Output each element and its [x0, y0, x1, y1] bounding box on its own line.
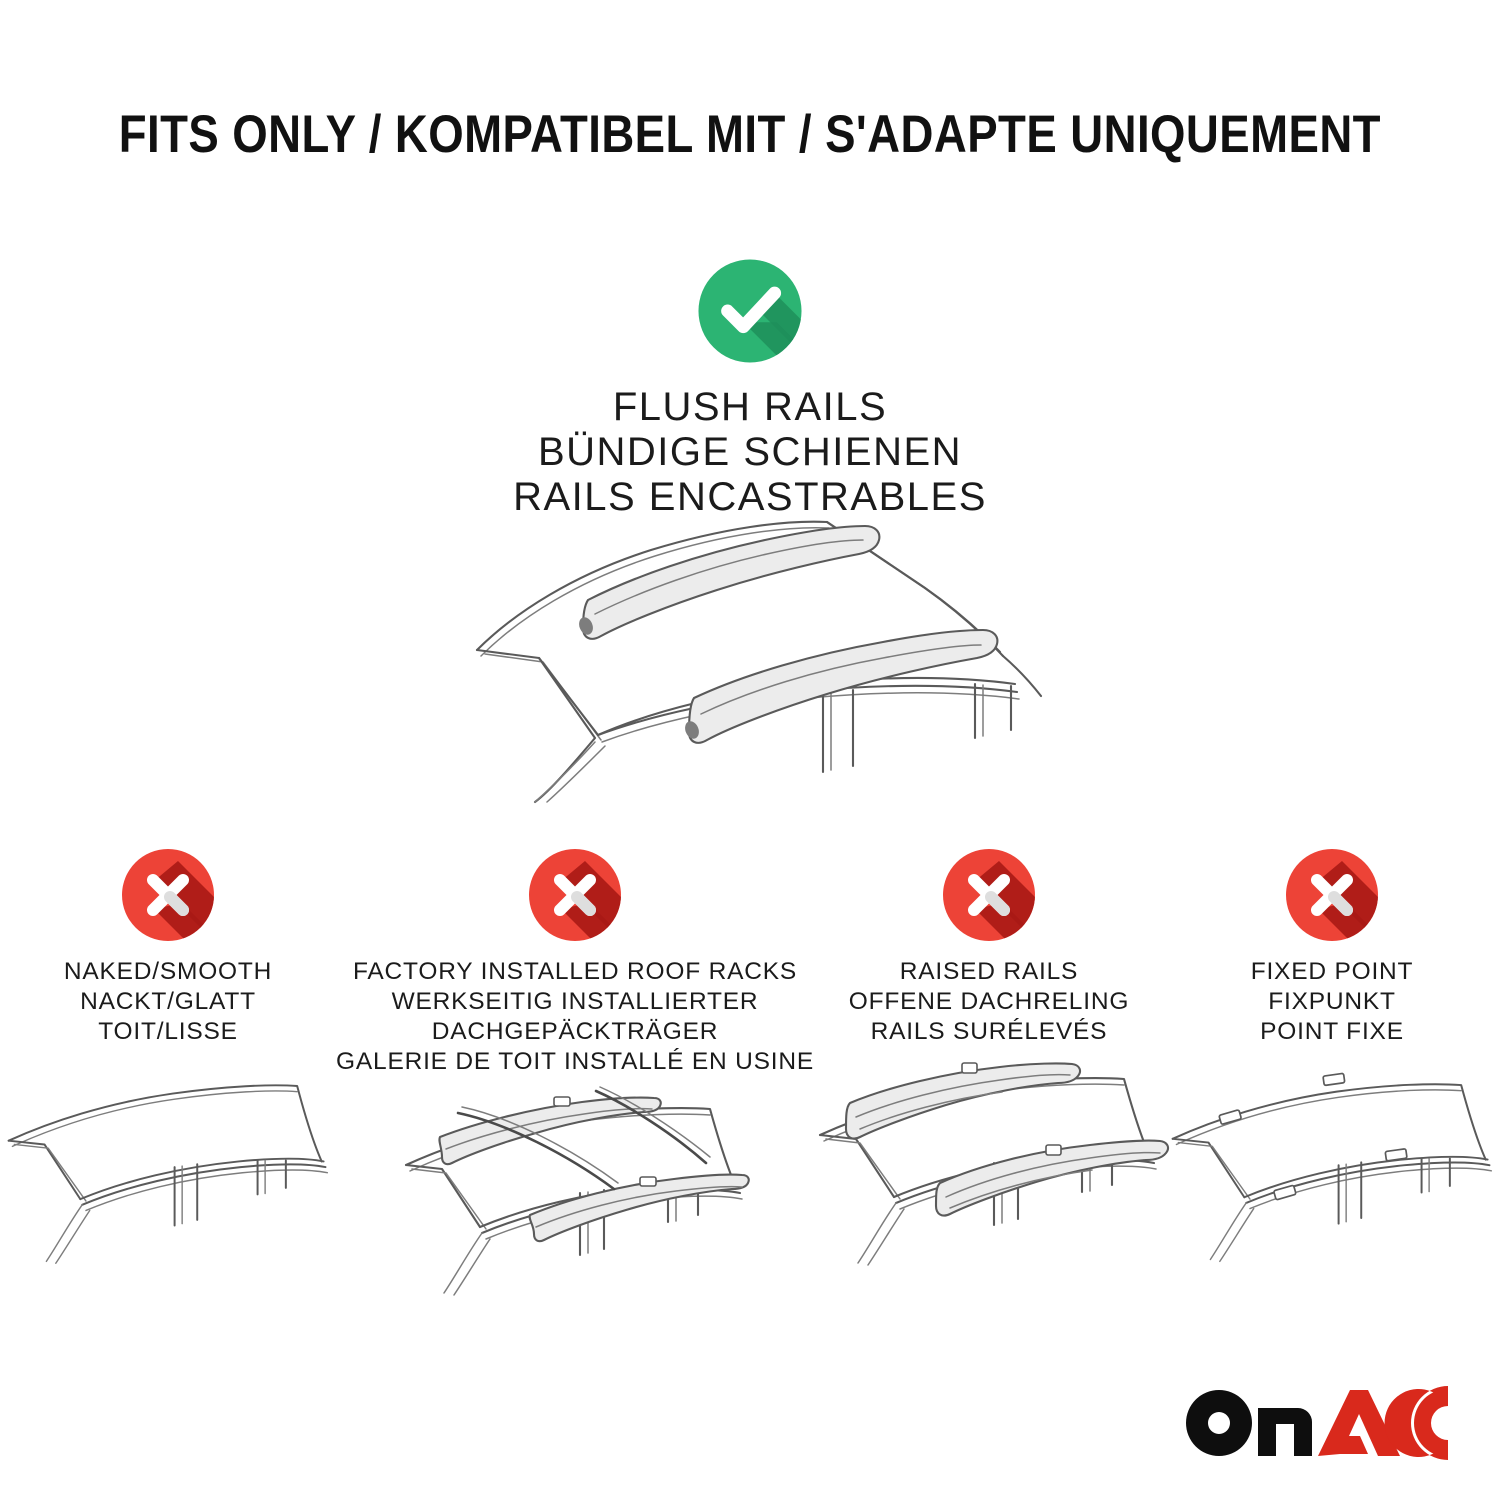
x-circle-icon: [1282, 845, 1382, 945]
option-caption-line-1: FACTORY INSTALLED ROOF RACKS: [336, 957, 814, 987]
option-caption-line-2: NACKT/GLATT: [64, 987, 272, 1017]
factory-roof-racks-illustration: [400, 1091, 750, 1306]
hero-caption-line-1: FLUSH RAILS: [0, 385, 1500, 430]
option-caption: NAKED/SMOOTH NACKT/GLATT TOIT/LISSE: [64, 957, 272, 1047]
option-caption-line-3: TOIT/LISSE: [64, 1017, 272, 1047]
incompatible-options-row: NAKED/SMOOTH NACKT/GLATT TOIT/LISSE: [0, 845, 1500, 1306]
option-caption-line-2: OFFENE DACHRELING: [849, 987, 1129, 1017]
compatible-option-flush-rails: FLUSH RAILS BÜNDIGE SCHIENEN RAILS ENCAS…: [0, 255, 1500, 519]
fixed-point-roof-illustration: [1167, 1061, 1497, 1276]
option-caption-line-3: POINT FIXE: [1251, 1017, 1414, 1047]
option-caption-line-4: GALERIE DE TOIT INSTALLÉ EN USINE: [336, 1047, 814, 1077]
logo-letter-m: [1258, 1408, 1312, 1456]
hero-caption-line-2: BÜNDIGE SCHIENEN: [0, 430, 1500, 475]
option-caption-line-1: NAKED/SMOOTH: [64, 957, 272, 987]
option-caption-line-3: DACHGEPÄCKTRÄGER: [336, 1017, 814, 1047]
option-caption: RAISED RAILS OFFENE DACHRELING RAILS SUR…: [849, 957, 1129, 1047]
option-caption-line-2: FIXPUNKT: [1251, 987, 1414, 1017]
option-caption-line-2: WERKSEITIG INSTALLIERTER: [336, 987, 814, 1017]
x-circle-icon: [118, 845, 218, 945]
flush-rails-roof-illustration: [455, 502, 1055, 802]
incompatible-option-fixed-point: FIXED POINT FIXPUNKT POINT FIXE: [1164, 845, 1500, 1276]
incompatible-option-naked-smooth: NAKED/SMOOTH NACKT/GLATT TOIT/LISSE: [0, 845, 336, 1276]
incompatible-option-factory-roof-racks: FACTORY INSTALLED ROOF RACKS WERKSEITIG …: [336, 845, 814, 1306]
page-header: FITS ONLY / KOMPATIBEL MIT / S'ADAPTE UN…: [0, 104, 1500, 165]
logo-letter-o: [1186, 1390, 1252, 1456]
incompatible-option-raised-rails: RAISED RAILS OFFENE DACHRELING RAILS SUR…: [814, 845, 1164, 1276]
page-title: FITS ONLY / KOMPATIBEL MIT / S'ADAPTE UN…: [119, 104, 1381, 165]
raised-rails-illustration: [814, 1061, 1164, 1276]
option-caption-line-1: RAISED RAILS: [849, 957, 1129, 987]
hero-caption: FLUSH RAILS BÜNDIGE SCHIENEN RAILS ENCAS…: [0, 385, 1500, 519]
omac-logo: [1182, 1386, 1452, 1460]
option-caption: FACTORY INSTALLED ROOF RACKS WERKSEITIG …: [336, 957, 814, 1077]
naked-smooth-roof-illustration: [3, 1061, 333, 1276]
option-caption-line-1: FIXED POINT: [1251, 957, 1414, 987]
x-circle-icon: [525, 845, 625, 945]
check-circle-icon: [694, 255, 806, 367]
x-circle-icon: [939, 845, 1039, 945]
option-caption-line-3: RAILS SURÉLEVÉS: [849, 1017, 1129, 1047]
option-caption: FIXED POINT FIXPUNKT POINT FIXE: [1251, 957, 1414, 1047]
